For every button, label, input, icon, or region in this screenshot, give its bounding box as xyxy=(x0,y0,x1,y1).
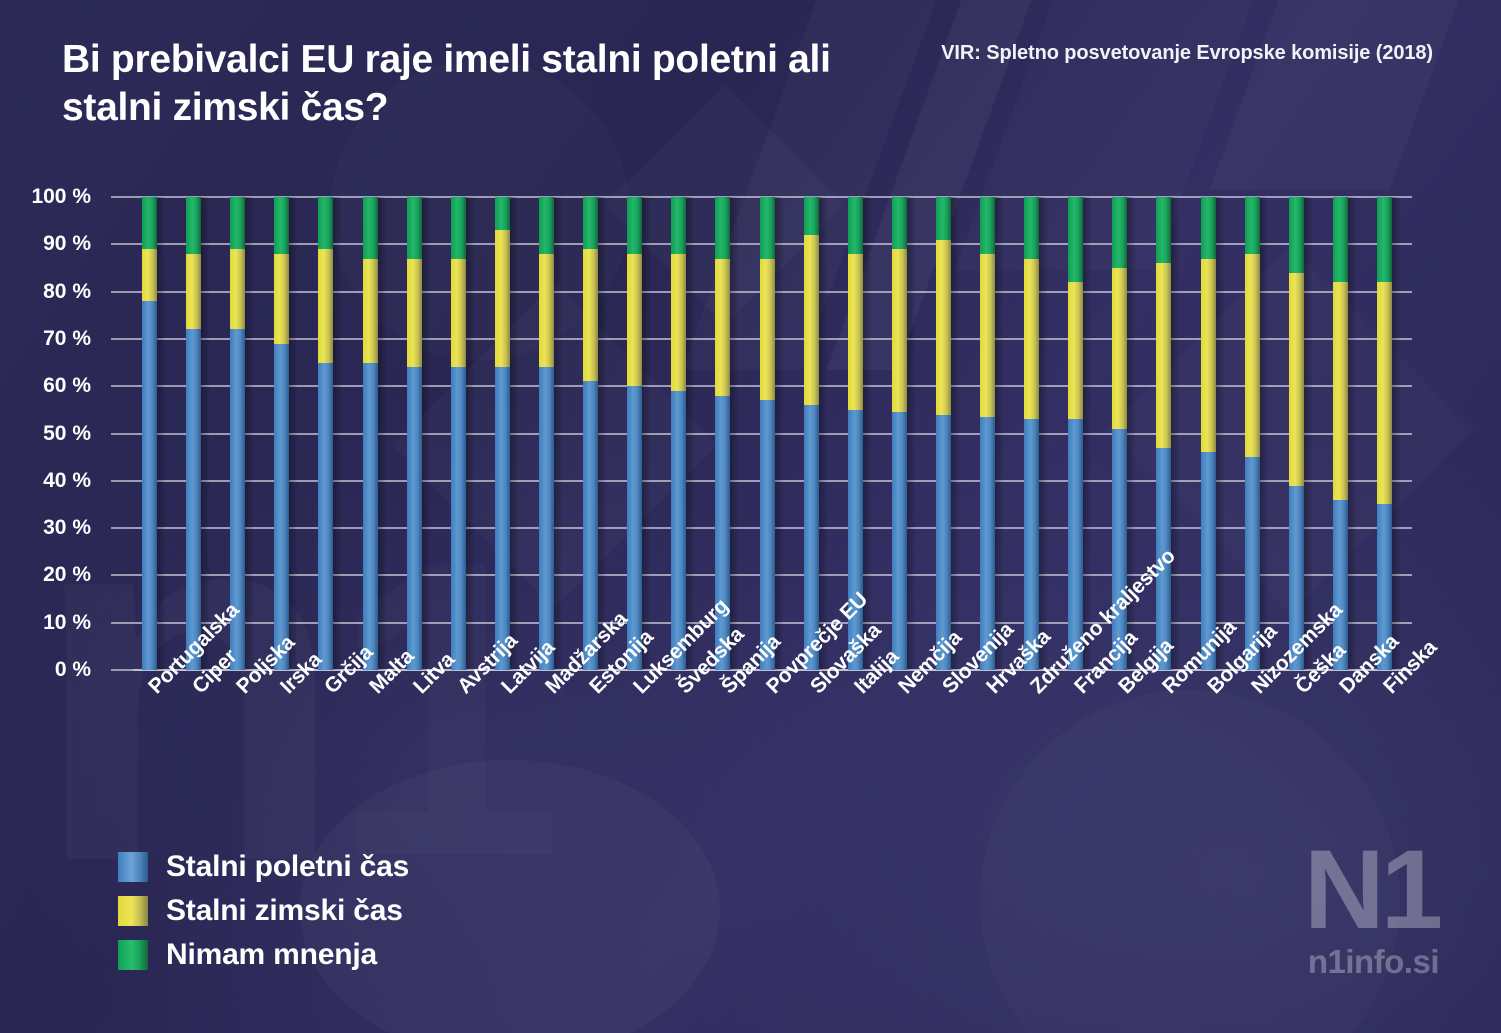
bar-segment xyxy=(1289,197,1304,273)
y-tick-mark xyxy=(111,338,133,340)
bar-segment xyxy=(671,254,686,391)
bar-segment xyxy=(715,197,730,258)
bar-segment xyxy=(142,249,157,301)
legend-swatch xyxy=(118,896,148,926)
bar-segment xyxy=(583,197,598,249)
bar-segment xyxy=(142,301,157,670)
y-tick-mark xyxy=(111,433,133,435)
bar-shadow xyxy=(598,197,606,670)
bar-segment xyxy=(804,197,819,235)
bar-segment xyxy=(1201,197,1216,258)
legend-label: Nimam mnenja xyxy=(166,938,377,972)
y-tick-label: 40 % xyxy=(43,469,91,493)
bar-segment xyxy=(1068,197,1083,282)
bar-segment xyxy=(848,197,863,254)
bar-shadow xyxy=(1392,197,1400,670)
bar-segment xyxy=(892,412,907,670)
bar-shadow xyxy=(245,197,253,670)
bar-segment xyxy=(627,197,642,254)
bar-segment xyxy=(363,197,378,258)
bar-segment xyxy=(1156,197,1171,263)
bar-shadow xyxy=(333,197,341,670)
y-tick-label: 0 % xyxy=(55,658,91,682)
bar-shadow xyxy=(378,197,386,670)
bar-segment xyxy=(363,363,378,670)
y-tick-mark xyxy=(111,622,133,624)
bar-segment xyxy=(583,249,598,381)
bar-segment xyxy=(760,400,775,670)
y-tick-label: 30 % xyxy=(43,516,91,540)
bar-shadow xyxy=(686,197,694,670)
source-note: VIR: Spletno posvetovanje Evropske komis… xyxy=(941,42,1433,65)
bar-segment xyxy=(451,197,466,258)
bar-segment xyxy=(1377,282,1392,504)
bar-segment xyxy=(230,249,245,329)
bar-shadow xyxy=(422,197,430,670)
bar-segment xyxy=(980,254,995,417)
bar-shadow xyxy=(289,197,297,670)
bar-segment xyxy=(1112,268,1127,429)
logo-mark: N1 xyxy=(1304,838,1439,941)
bar-segment xyxy=(1112,197,1127,268)
legend-item-summer-time[interactable]: Stalni poletni čas xyxy=(118,845,409,889)
y-tick-label: 60 % xyxy=(43,374,91,398)
bar-segment xyxy=(318,363,333,670)
bar-shadow xyxy=(775,197,783,670)
y-tick-mark xyxy=(111,669,133,671)
bar-shadow xyxy=(819,197,827,670)
legend-label: Stalni poletni čas xyxy=(166,850,409,884)
y-tick-label: 10 % xyxy=(43,611,91,635)
bar-segment xyxy=(495,230,510,367)
bar-shadow xyxy=(510,197,518,670)
bar-segment xyxy=(1333,282,1348,500)
y-tick-mark xyxy=(111,385,133,387)
bar-segment xyxy=(451,367,466,670)
legend-swatch xyxy=(118,940,148,970)
logo-subtitle: n1info.si xyxy=(1304,943,1439,981)
y-tick-label: 70 % xyxy=(43,327,91,351)
bar-segment xyxy=(539,197,554,254)
bar-shadow xyxy=(1304,197,1312,670)
bar-segment xyxy=(936,197,951,240)
bar-segment xyxy=(451,259,466,368)
bar-segment xyxy=(848,254,863,410)
bar-shadow xyxy=(1216,197,1224,670)
bar-segment xyxy=(539,254,554,368)
bar-shadow xyxy=(466,197,474,670)
bar-segment xyxy=(1068,282,1083,419)
chart-legend: Stalni poletni časStalni zimski časNimam… xyxy=(118,845,409,977)
bar-segment xyxy=(1201,259,1216,453)
bar-shadow xyxy=(1260,197,1268,670)
bar-segment xyxy=(760,197,775,258)
bar-segment xyxy=(495,197,510,230)
y-tick-label: 20 % xyxy=(43,563,91,587)
bar-shadow xyxy=(554,197,562,670)
page-title: Bi prebivalci EU raje imeli stalni polet… xyxy=(62,36,852,131)
bar-segment xyxy=(186,254,201,330)
bar-shadow xyxy=(730,197,738,670)
bar-segment xyxy=(318,197,333,249)
bar-segment xyxy=(539,367,554,670)
bar-segment xyxy=(363,259,378,363)
bar-segment xyxy=(715,259,730,396)
bar-segment xyxy=(1024,197,1039,258)
bar-segment xyxy=(804,235,819,405)
bar-shadow xyxy=(157,197,165,670)
brand-logo: N1 n1info.si xyxy=(1304,838,1439,981)
bar-segment xyxy=(407,259,422,368)
bar-segment xyxy=(1245,197,1260,254)
bar-segment xyxy=(274,197,289,254)
bar-segment xyxy=(407,197,422,258)
bar-segment xyxy=(274,254,289,344)
bar-segment xyxy=(627,254,642,386)
bar-shadow xyxy=(951,197,959,670)
y-tick-mark xyxy=(111,291,133,293)
bar-segment xyxy=(274,344,289,670)
bar-shadow xyxy=(201,197,209,670)
bar-segment xyxy=(142,197,157,249)
bar-segment xyxy=(892,197,907,249)
bar-segment xyxy=(1156,263,1171,447)
y-tick-mark xyxy=(111,196,133,198)
bar-segment xyxy=(892,249,907,412)
bar-segment xyxy=(980,197,995,254)
y-tick-label: 80 % xyxy=(43,280,91,304)
y-axis: 0 %10 %20 %30 %40 %50 %60 %70 %80 %90 %1… xyxy=(0,197,133,673)
bar-segment xyxy=(186,197,201,254)
bar-segment xyxy=(495,367,510,670)
y-tick-label: 100 % xyxy=(31,185,91,209)
bar-shadow xyxy=(1348,197,1356,670)
y-tick-mark xyxy=(111,527,133,529)
bar-shadow xyxy=(1039,197,1047,670)
bar-segment xyxy=(936,240,951,415)
legend-label: Stalni zimski čas xyxy=(166,894,403,928)
bar-shadow xyxy=(1171,197,1179,670)
legend-item-winter-time[interactable]: Stalni zimski čas xyxy=(118,889,409,933)
y-tick-mark xyxy=(111,480,133,482)
bar-shadow xyxy=(642,197,650,670)
bar-segment xyxy=(1289,273,1304,486)
legend-swatch xyxy=(118,852,148,882)
bar-segment xyxy=(1245,254,1260,457)
y-tick-label: 90 % xyxy=(43,232,91,256)
bar-shadow xyxy=(1083,197,1091,670)
bar-shadow xyxy=(995,197,1003,670)
bar-segment xyxy=(318,249,333,363)
plot-area xyxy=(133,197,1412,670)
bar-segment xyxy=(186,329,201,670)
y-tick-label: 50 % xyxy=(43,422,91,446)
bar-segment xyxy=(1024,259,1039,420)
bar-segment xyxy=(230,197,245,249)
y-tick-mark xyxy=(111,243,133,245)
bar-segment xyxy=(407,367,422,670)
bar-segment xyxy=(671,197,686,254)
legend-item-no-opinion[interactable]: Nimam mnenja xyxy=(118,933,409,977)
bar-segment xyxy=(760,259,775,401)
bar-segment xyxy=(1377,197,1392,282)
y-tick-mark xyxy=(111,574,133,576)
bar-segment xyxy=(1333,197,1348,282)
bar-shadow xyxy=(907,197,915,670)
